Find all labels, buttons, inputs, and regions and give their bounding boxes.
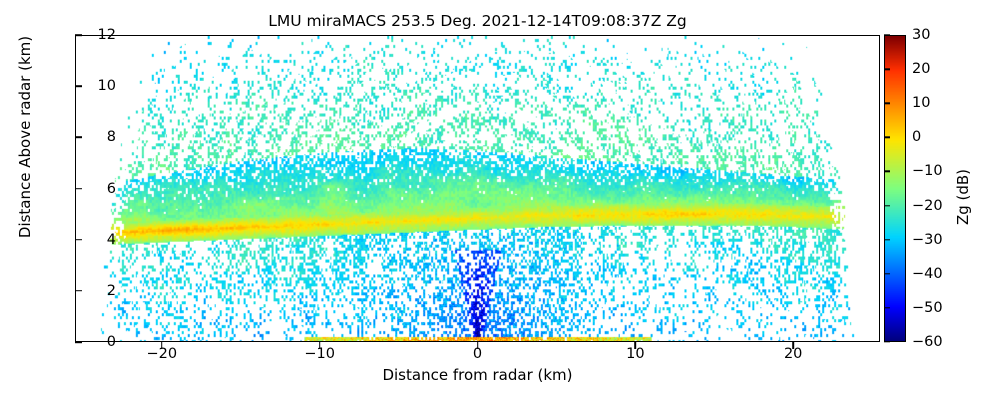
colorbar-tick-label: −50 [912, 300, 972, 316]
colorbar-tick-mark [884, 171, 890, 172]
x-tick-label: 10 [595, 346, 675, 362]
radar-reflectivity-heatmap [76, 36, 879, 341]
colorbar-tick-label: −30 [912, 232, 972, 248]
colorbar-tick-mark [884, 205, 890, 206]
colorbar-tick-label: 0 [912, 129, 972, 145]
colorbar [884, 35, 906, 342]
colorbar-tick-mark [884, 103, 890, 104]
colorbar-tick-mark [884, 341, 890, 342]
colorbar-gradient [885, 36, 905, 341]
colorbar-tick-mark [884, 307, 890, 308]
x-tick-label: 20 [753, 346, 833, 362]
y-tick-label: 12 [56, 27, 116, 43]
x-tick-label: −10 [280, 346, 360, 362]
y-axis-label: Distance Above radar (km) [16, 0, 34, 292]
colorbar-tick-mark [884, 137, 890, 138]
colorbar-tick-label: −10 [912, 163, 972, 179]
y-tick-label: 0 [56, 334, 116, 350]
colorbar-tick-mark [884, 239, 890, 240]
radar-rhi-figure: LMU miraMACS 253.5 Deg. 2021-12-14T09:08… [0, 0, 1000, 400]
colorbar-tick-mark [884, 68, 890, 69]
colorbar-tick-label: −40 [912, 266, 972, 282]
colorbar-tick-label: −60 [912, 334, 972, 350]
y-tick-label: 6 [56, 181, 116, 197]
colorbar-tick-label: 30 [912, 27, 972, 43]
y-tick-label: 2 [56, 283, 116, 299]
plot-title: LMU miraMACS 253.5 Deg. 2021-12-14T09:08… [75, 12, 880, 30]
y-tick-label: 4 [56, 232, 116, 248]
y-tick-label: 10 [56, 78, 116, 94]
x-tick-label: −20 [122, 346, 202, 362]
colorbar-tick-label: 20 [912, 61, 972, 77]
y-tick-label: 8 [56, 129, 116, 145]
colorbar-tick-mark [884, 273, 890, 274]
colorbar-tick-label: 10 [912, 95, 972, 111]
colorbar-tick-label: −20 [912, 198, 972, 214]
x-axis-label: Distance from radar (km) [75, 366, 880, 384]
x-tick-label: 0 [438, 346, 518, 362]
colorbar-tick-mark [884, 34, 890, 35]
plot-area [75, 35, 880, 342]
